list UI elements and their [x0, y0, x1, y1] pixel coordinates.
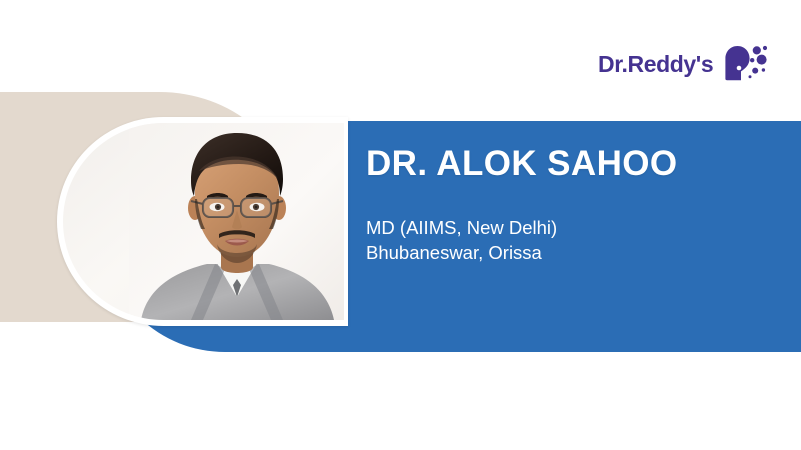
dr-reddys-logo-icon — [719, 42, 767, 86]
doctor-name: DR. ALOK SAHOO — [366, 146, 786, 183]
brand-wordmark: Dr.Reddy's — [598, 53, 713, 76]
brand-logo: Dr.Reddy's — [598, 38, 758, 90]
doctor-photo-card — [57, 117, 348, 326]
doctor-photo-frame — [63, 123, 344, 320]
doctor-profile-slide: DR. ALOK SAHOO MD (AIIMS, New Delhi) Bhu… — [0, 0, 801, 450]
doctor-portrait-image — [129, 123, 344, 320]
doctor-info-text: DR. ALOK SAHOO MD (AIIMS, New Delhi) Bhu… — [366, 146, 786, 265]
doctor-credentials: MD (AIIMS, New Delhi) Bhubaneswar, Oriss… — [366, 215, 786, 265]
credential-location: Bhubaneswar, Orissa — [366, 240, 786, 265]
credential-degree: MD (AIIMS, New Delhi) — [366, 215, 786, 240]
